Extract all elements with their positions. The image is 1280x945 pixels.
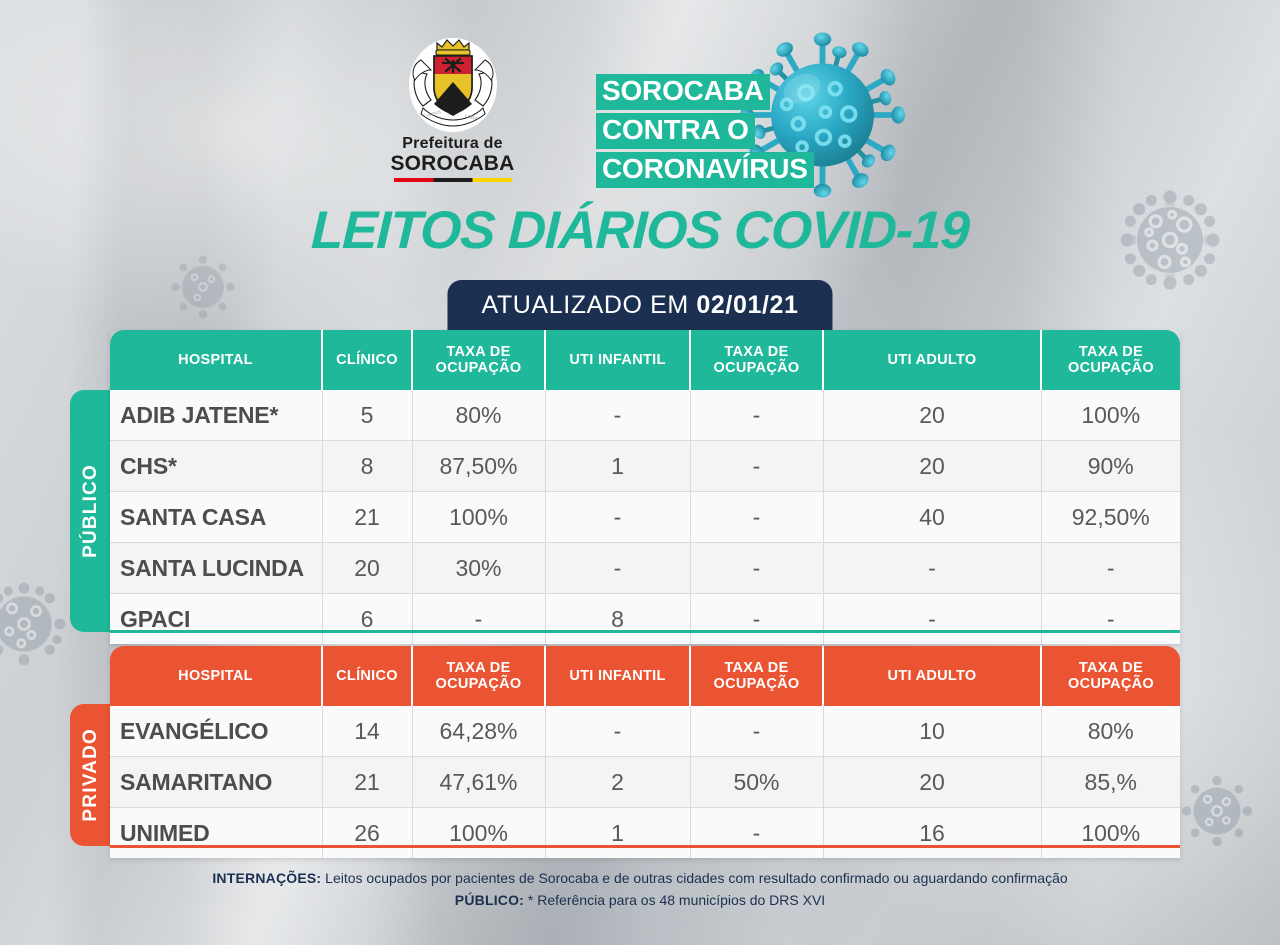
col-taxa-clinico: TAXA DE OCUPAÇÃO [412,330,545,390]
cell-taxa-uti-infantil: - [690,441,823,492]
updated-label: ATUALIZADO EM [481,291,696,319]
footer-line-publico: PÚBLICO: * Referência para os 48 municíp… [0,890,1280,912]
table-row: SANTA LUCINDA2030%---- [110,543,1180,594]
cell-taxa-uti-infantil: - [690,492,823,543]
private-table-body: EVANGÉLICO1464,28%--1080%SAMARITANO2147,… [110,706,1180,858]
cell-taxa-uti-infantil: 50% [690,757,823,808]
col-uti-infantil: UTI INFANTIL [545,646,690,706]
col-taxa-uti-adulto: TAXA DE OCUPAÇÃO [1041,646,1180,706]
campaign-line-1: SOROCABA [596,74,770,110]
updated-date-badge: ATUALIZADO EM 02/01/21 [447,280,832,332]
cell-uti-infantil: 2 [545,757,690,808]
table-row: SANTA CASA21100%--4092,50% [110,492,1180,543]
cell-taxa-clinico: 87,50% [412,441,545,492]
table-row: ADIB JATENE*580%--20100% [110,390,1180,441]
cell-uti-adulto: 16 [823,808,1041,859]
table-row: SAMARITANO2147,61%250%2085,% [110,757,1180,808]
footer-label-publico: PÚBLICO: [455,892,524,908]
col-hospital: HOSPITAL [110,330,322,390]
cell-hospital: ADIB JATENE* [110,390,322,441]
cell-taxa-clinico: 64,28% [412,706,545,757]
cell-clinico: 21 [322,757,412,808]
public-table-head: HOSPITAL CLÍNICO TAXA DE OCUPAÇÃO UTI IN… [110,330,1180,390]
page-header: VIRTUS LABOR Prefeitura de SOROCABA [0,22,1280,187]
private-table-underline [110,845,1180,848]
cell-taxa-clinico: - [412,594,545,645]
section-tab-privado-label: PRIVADO [80,728,102,822]
footer-notes: INTERNAÇÕES: Leitos ocupados por pacient… [0,868,1280,911]
prefecture-line-2: SOROCABA [385,153,520,175]
cell-taxa-uti-infantil: - [690,808,823,859]
updated-date: 02/01/21 [696,291,798,319]
footer-line-internacoes: INTERNAÇÕES: Leitos ocupados por pacient… [0,868,1280,890]
cell-uti-infantil: - [545,390,690,441]
private-hospitals-table: HOSPITAL CLÍNICO TAXA DE OCUPAÇÃO UTI IN… [110,646,1180,858]
section-tab-privado: PRIVADO [70,704,112,846]
cell-hospital: UNIMED [110,808,322,859]
col-uti-adulto: UTI ADULTO [823,646,1041,706]
cell-taxa-uti-adulto: 100% [1041,808,1180,859]
cell-uti-adulto: 20 [823,390,1041,441]
table-row: UNIMED26100%1-16100% [110,808,1180,859]
footer-text-publico: * Referência para os 48 municípios do DR… [524,892,825,908]
col-clinico: CLÍNICO [322,646,412,706]
cell-clinico: 14 [322,706,412,757]
cell-clinico: 21 [322,492,412,543]
campaign-line-2: CONTRA O [596,113,755,149]
public-table-body: ADIB JATENE*580%--20100%CHS*887,50%1-209… [110,390,1180,644]
private-hospitals-table-wrapper: HOSPITAL CLÍNICO TAXA DE OCUPAÇÃO UTI IN… [110,646,1180,858]
virus-watermark-icon [168,252,238,322]
cell-uti-adulto: 10 [823,706,1041,757]
cell-taxa-clinico: 30% [412,543,545,594]
table-row: GPACI6-8--- [110,594,1180,645]
table-row: EVANGÉLICO1464,28%--1080% [110,706,1180,757]
cell-taxa-clinico: 100% [412,492,545,543]
cell-hospital: SANTA LUCINDA [110,543,322,594]
cell-clinico: 6 [322,594,412,645]
col-taxa-uti-adulto: TAXA DE OCUPAÇÃO [1041,330,1180,390]
cell-taxa-uti-adulto: - [1041,594,1180,645]
cell-taxa-uti-infantil: - [690,390,823,441]
col-taxa-clinico: TAXA DE OCUPAÇÃO [412,646,545,706]
cell-uti-infantil: - [545,492,690,543]
public-header-row: HOSPITAL CLÍNICO TAXA DE OCUPAÇÃO UTI IN… [110,330,1180,390]
cell-clinico: 26 [322,808,412,859]
cell-uti-adulto: 20 [823,757,1041,808]
cell-uti-adulto: 20 [823,441,1041,492]
cell-taxa-uti-adulto: 80% [1041,706,1180,757]
public-hospitals-table: HOSPITAL CLÍNICO TAXA DE OCUPAÇÃO UTI IN… [110,330,1180,644]
cell-clinico: 8 [322,441,412,492]
footer-label-internacoes: INTERNAÇÕES: [212,870,321,886]
cell-uti-infantil: 8 [545,594,690,645]
cell-hospital: EVANGÉLICO [110,706,322,757]
cell-taxa-uti-adulto: 90% [1041,441,1180,492]
sorocaba-coat-of-arms-icon: VIRTUS LABOR [407,30,499,134]
cell-clinico: 5 [322,390,412,441]
footer-text-internacoes: Leitos ocupados por pacientes de Sorocab… [321,870,1067,886]
cell-uti-infantil: - [545,706,690,757]
cell-taxa-uti-infantil: - [690,706,823,757]
col-clinico: CLÍNICO [322,330,412,390]
col-taxa-uti-infantil: TAXA DE OCUPAÇÃO [690,646,823,706]
cell-taxa-uti-infantil: - [690,594,823,645]
cell-taxa-clinico: 47,61% [412,757,545,808]
virus-watermark-icon [1178,772,1256,850]
prefecture-flag-rule [394,178,512,182]
col-hospital: HOSPITAL [110,646,322,706]
section-tab-publico-label: PÚBLICO [80,464,102,558]
cell-hospital: SANTA CASA [110,492,322,543]
cell-taxa-uti-adulto: 100% [1041,390,1180,441]
col-uti-adulto: UTI ADULTO [823,330,1041,390]
cell-taxa-uti-adulto: - [1041,543,1180,594]
cell-uti-adulto: 40 [823,492,1041,543]
campaign-logo: SOROCABA CONTRA O CORONAVÍRUS [596,74,814,191]
cell-clinico: 20 [322,543,412,594]
cell-hospital: GPACI [110,594,322,645]
table-row: CHS*887,50%1-2090% [110,441,1180,492]
cell-hospital: CHS* [110,441,322,492]
prefecture-logo: VIRTUS LABOR Prefeitura de SOROCABA [385,30,520,182]
col-taxa-uti-infantil: TAXA DE OCUPAÇÃO [690,330,823,390]
cell-uti-infantil: - [545,543,690,594]
cell-hospital: SAMARITANO [110,757,322,808]
cell-taxa-clinico: 100% [412,808,545,859]
page-title: LEITOS DIÁRIOS COVID-19 [0,200,1280,261]
private-header-row: HOSPITAL CLÍNICO TAXA DE OCUPAÇÃO UTI IN… [110,646,1180,706]
public-table-underline [110,630,1180,633]
prefecture-line-1: Prefeitura de [385,136,520,153]
cell-uti-adulto: - [823,543,1041,594]
section-tab-publico: PÚBLICO [70,390,112,632]
campaign-line-3: CORONAVÍRUS [596,152,814,188]
cell-taxa-clinico: 80% [412,390,545,441]
public-hospitals-table-wrapper: HOSPITAL CLÍNICO TAXA DE OCUPAÇÃO UTI IN… [110,330,1180,644]
col-uti-infantil: UTI INFANTIL [545,330,690,390]
cell-uti-adulto: - [823,594,1041,645]
virus-watermark-icon [0,578,70,670]
cell-taxa-uti-adulto: 85,% [1041,757,1180,808]
private-table-head: HOSPITAL CLÍNICO TAXA DE OCUPAÇÃO UTI IN… [110,646,1180,706]
cell-uti-infantil: 1 [545,441,690,492]
cell-taxa-uti-infantil: - [690,543,823,594]
cell-uti-infantil: 1 [545,808,690,859]
cell-taxa-uti-adulto: 92,50% [1041,492,1180,543]
